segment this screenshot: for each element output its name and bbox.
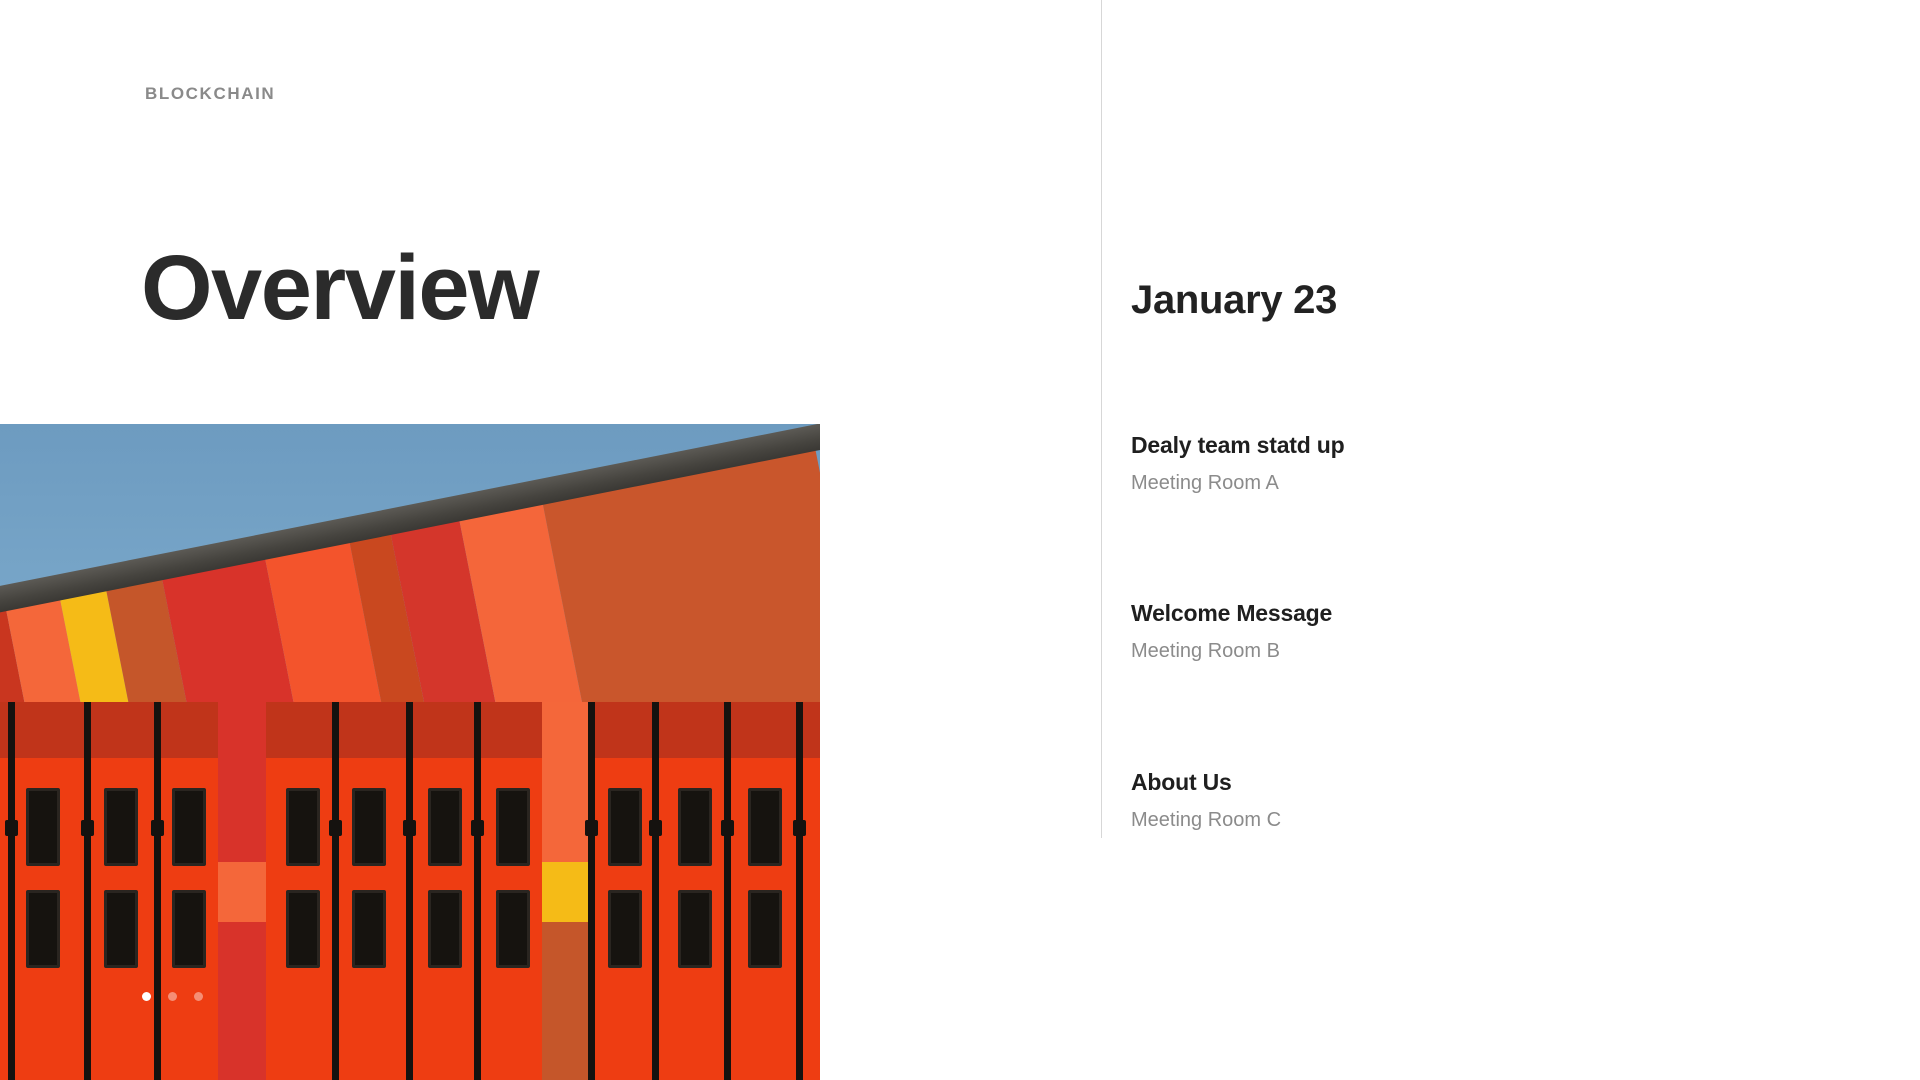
agenda-row-title: About Us bbox=[1131, 769, 1281, 796]
agenda-row-location: Meeting Room A bbox=[1131, 472, 1345, 495]
agenda-row-location: Meeting Room C bbox=[1131, 809, 1281, 832]
agenda-panel: January 23 09:10 – 09:30 Dealy team stat… bbox=[0, 0, 1920, 1080]
agenda-row-location: Meeting Room B bbox=[1131, 640, 1332, 663]
agenda-row-title: Welcome Message bbox=[1131, 600, 1332, 627]
agenda-row-title: Dealy team statd up bbox=[1131, 432, 1345, 459]
agenda-date: January 23 bbox=[1131, 278, 1337, 323]
presentation-slide: BLOCKCHAIN Overview January 23 09:10 – 0… bbox=[0, 0, 1920, 1080]
